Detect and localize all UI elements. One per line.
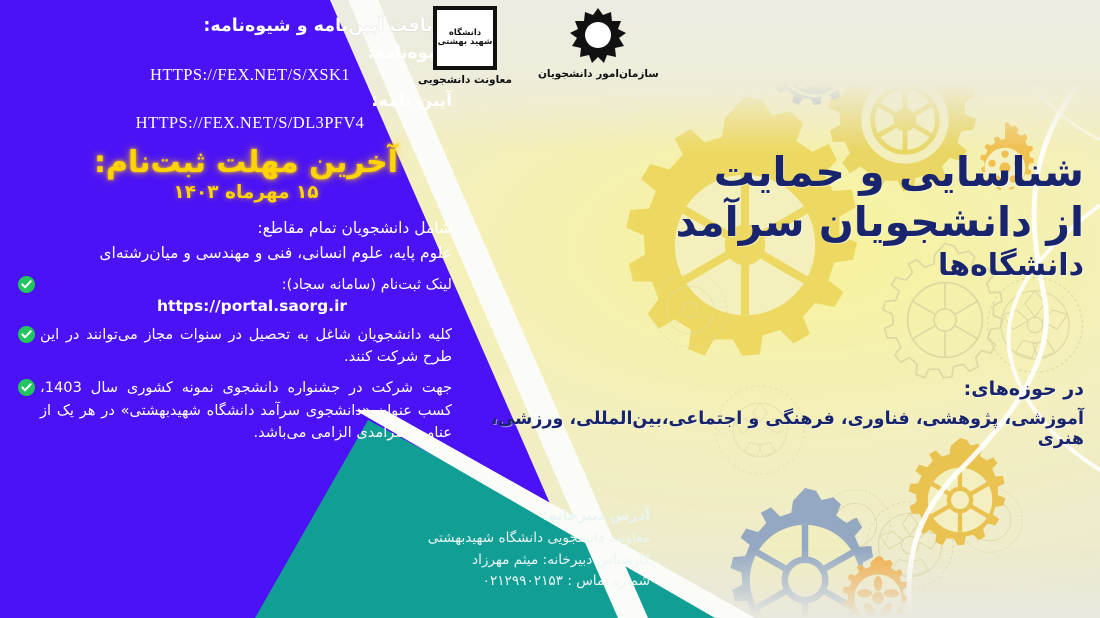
address-label: آدرس دبیرخانه: (300, 505, 650, 527)
fields-heading: در حوزه‌های: (444, 378, 1084, 400)
logo-student-affairs: سازمان‌امور دانشجویان (538, 6, 659, 81)
deadline-heading: آخرین مهلت ثبت‌نام: (10, 145, 452, 180)
secretariat-contact-block: آدرس دبیرخانه: معاونت دانشجویی دانشگاه ش… (300, 505, 654, 593)
fields-block: در حوزه‌های: آموزشی، پژوهشی، فناوری، فره… (444, 378, 1084, 449)
secretariat-expert: کارشناس دبیرخانه: میثم مهرزاد (300, 550, 650, 571)
title-line-2: از دانشجویان سرآمد (564, 198, 1084, 246)
download-heading: دریافت آیین‌نامه و شیوه‌نامه: (10, 14, 452, 39)
poster-canvas: دریافت آیین‌نامه و شیوه‌نامه: شیوه‌نامه:… (0, 0, 1100, 618)
address-value: معاونت دانشجویی دانشگاه شهیدبهشتی (300, 528, 650, 549)
registration-portal-url[interactable]: https://portal.saorg.ir (10, 297, 452, 315)
eligibility-heading: شامل دانشجویان تمام مقاطع: (10, 217, 452, 240)
shahid-beheshti-logo-icon: دانشگاه شهید بهشتی (433, 6, 497, 70)
logo-caption: معاونت دانشجویی (418, 74, 512, 87)
poster-title: شناسایی و حمایت از دانشجویان سرآمد دانشگ… (564, 148, 1084, 283)
phone-value: ۰۲۱۲۹۹۰۲۱۵۳ (483, 573, 563, 589)
starburst-logo-icon (568, 6, 628, 64)
eligibility-line: علوم پایه، علوم انسانی، فنی و مهندسی و م… (10, 242, 452, 265)
check-circle-icon (18, 326, 35, 343)
check-circle-icon (18, 379, 35, 396)
regulation-url[interactable]: HTTPS://FEX.NET/S/DL3PFV4 (10, 113, 452, 133)
list-item-text: کلیه دانشجویان شاغل به تحصیل در سنوات مج… (40, 324, 452, 368)
title-line-3: دانشگاه‌ها (564, 248, 1084, 283)
check-circle-icon (18, 276, 35, 293)
logo-row: دانشگاه شهید بهشتی معاونت دانشجویی سازما… (418, 6, 668, 118)
method-label: شیوه‌نامه: (10, 43, 452, 63)
list-item: جهت شرکت در جشنواره دانشجوی نمونه کشوری … (10, 377, 452, 444)
phone-label: شماره تماس : (567, 573, 650, 589)
deadline-date: ۱۵ مهرماه ۱۴۰۳ (10, 182, 452, 203)
list-item-text: لینک ثبت‌نام (سامانه سجاد): (40, 274, 452, 296)
logo-shahid-beheshti: دانشگاه شهید بهشتی معاونت دانشجویی (418, 6, 512, 87)
method-url[interactable]: HTTPS://FEX.NET/S/XSK1 (10, 65, 452, 85)
list-item: لینک ثبت‌نام (سامانه سجاد): (10, 274, 452, 296)
phone-line: شماره تماس : ۰۲۱۲۹۹۰۲۱۵۳ (300, 571, 650, 592)
logo-caption: سازمان‌امور دانشجویان (538, 68, 659, 81)
fields-list: آموزشی، پژوهشی، فناوری، فرهنگی و اجتماعی… (444, 409, 1084, 449)
title-line-1: شناسایی و حمایت (564, 148, 1084, 196)
shahid-beheshti-logo-text: دانشگاه شهید بهشتی (437, 29, 493, 47)
list-item: کلیه دانشجویان شاغل به تحصیل در سنوات مج… (10, 324, 452, 368)
list-item-text: جهت شرکت در جشنواره دانشجوی نمونه کشوری … (40, 377, 452, 444)
regulation-label: آیین نامه: (10, 91, 452, 111)
